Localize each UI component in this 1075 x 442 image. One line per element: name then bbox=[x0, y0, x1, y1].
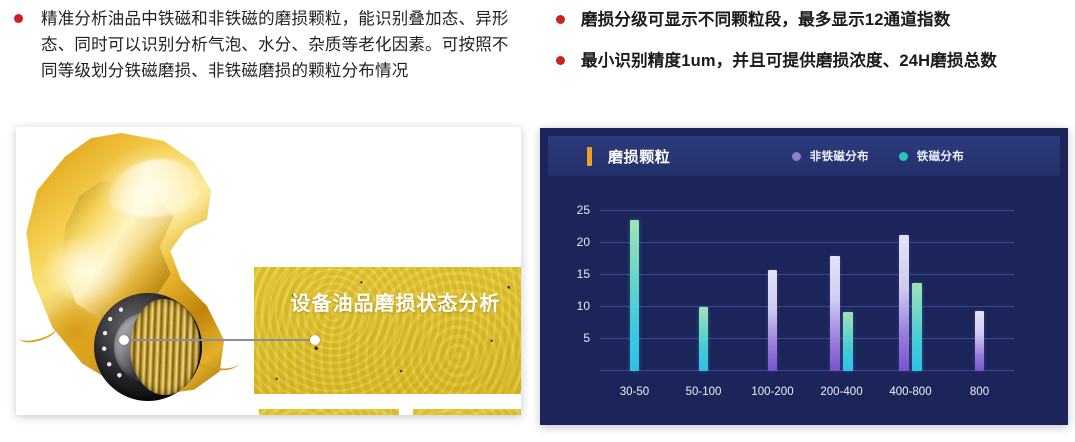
x-axis-tick-label: 30-50 bbox=[620, 386, 649, 398]
x-axis-tick-label: 200-400 bbox=[820, 386, 862, 398]
chart-gridline: 15 bbox=[600, 274, 1014, 275]
callout-connector-line bbox=[124, 339, 314, 341]
chart-legend: 非铁磁分布 铁磁分布 bbox=[762, 148, 964, 164]
micrograph-title-text: 设备油品磨损状态分析 bbox=[254, 287, 521, 316]
micrograph-title-tile: 设备油品磨损状态分析 bbox=[254, 267, 521, 394]
bullet-item: 磨损分级可显示不同颗粒段，最多显示12通道指数 bbox=[556, 8, 1066, 32]
legend-item-nonferromagnetic[interactable]: 非铁磁分布 bbox=[792, 148, 869, 164]
legend-label: 铁磁分布 bbox=[917, 148, 964, 164]
x-axis-tick-label: 50-100 bbox=[686, 386, 722, 398]
oil-highlight-shape bbox=[108, 159, 200, 217]
chart-bar[interactable] bbox=[630, 220, 640, 371]
chart-plot-area: 51015202530-5050-100100-200200-400400-80… bbox=[548, 184, 1060, 417]
chart-plot-inner: 51015202530-5050-100100-200200-400400-80… bbox=[600, 198, 1014, 371]
bullet-text: 精准分析油品中铁磁和非铁磁的磨损颗粒，能识别叠加态、异形态、同时可以识别分析气泡… bbox=[41, 6, 514, 84]
chart-title: 磨损颗粒 bbox=[608, 146, 670, 167]
y-axis-tick-label: 25 bbox=[577, 203, 590, 217]
y-axis-tick-label: 5 bbox=[583, 331, 590, 345]
bullet-dot-icon bbox=[14, 14, 23, 23]
chart-bar[interactable] bbox=[975, 311, 985, 371]
oil-splash-left bbox=[17, 319, 60, 345]
chart-gridline: 25 bbox=[600, 210, 1014, 211]
wear-particle-shapes bbox=[413, 409, 521, 415]
x-axis-tick-label: 100-200 bbox=[751, 386, 793, 398]
micrograph-particles-tile: 50um 30um 35um 铁磁颗粒 气泡 bbox=[413, 409, 521, 415]
chart-gridline: 20 bbox=[600, 242, 1014, 243]
chart-bar[interactable] bbox=[899, 235, 909, 371]
bearing-illustration bbox=[94, 293, 212, 405]
bullet-item: 精准分析油品中铁磁和非铁磁的磨损颗粒，能识别叠加态、异形态、同时可以识别分析气泡… bbox=[14, 6, 514, 84]
chart-bar[interactable] bbox=[843, 312, 853, 371]
bullet-text: 最小识别精度1um，并且可提供磨损浓度、24H磨损总数 bbox=[581, 49, 997, 73]
chart-bar[interactable] bbox=[768, 270, 778, 371]
bullet-list-left: 精准分析油品中铁磁和非铁磁的磨损颗粒，能识别叠加态、异形态、同时可以识别分析气泡… bbox=[14, 6, 514, 98]
particle-network-graph bbox=[259, 409, 399, 415]
micrograph-network-tile bbox=[259, 409, 399, 415]
x-axis-tick-label: 800 bbox=[970, 386, 989, 398]
wear-particle-chart-panel: 磨损颗粒 非铁磁分布 铁磁分布 51015202530-5050-100100-… bbox=[540, 128, 1068, 425]
chart-gridline: 10 bbox=[600, 306, 1014, 307]
bearing-roller-cage bbox=[130, 299, 200, 395]
y-axis-tick-label: 20 bbox=[577, 235, 590, 249]
oil-droplet-illustration bbox=[16, 127, 261, 415]
y-axis-tick-label: 10 bbox=[577, 299, 590, 313]
chart-axis-baseline bbox=[600, 370, 1014, 371]
legend-dot-icon bbox=[899, 152, 908, 161]
bullet-dot-icon bbox=[556, 15, 565, 24]
bullet-dot-icon bbox=[556, 56, 565, 65]
chart-bar[interactable] bbox=[699, 307, 709, 371]
legend-item-ferromagnetic[interactable]: 铁磁分布 bbox=[899, 148, 964, 164]
legend-label: 非铁磁分布 bbox=[810, 148, 869, 164]
chart-header: 磨损颗粒 非铁磁分布 铁磁分布 bbox=[548, 136, 1060, 176]
bullet-text: 磨损分级可显示不同颗粒段，最多显示12通道指数 bbox=[581, 8, 950, 32]
x-axis-tick-label: 400-800 bbox=[889, 386, 931, 398]
oil-analysis-photo-card: 设备油品磨损状态分析 50um bbox=[16, 127, 521, 415]
chart-bar[interactable] bbox=[830, 256, 840, 371]
chart-bar[interactable] bbox=[912, 283, 922, 371]
chart-gridline: 5 bbox=[600, 338, 1014, 339]
accent-bar-icon bbox=[587, 147, 592, 166]
y-axis-tick-label: 15 bbox=[577, 267, 590, 281]
legend-dot-icon bbox=[792, 152, 801, 161]
callout-dot-origin bbox=[119, 335, 129, 345]
bullet-item: 最小识别精度1um，并且可提供磨损浓度、24H磨损总数 bbox=[556, 49, 1066, 73]
callout-dot-target bbox=[310, 335, 320, 345]
bullet-list-right: 磨损分级可显示不同颗粒段，最多显示12通道指数 最小识别精度1um，并且可提供磨… bbox=[556, 8, 1066, 90]
